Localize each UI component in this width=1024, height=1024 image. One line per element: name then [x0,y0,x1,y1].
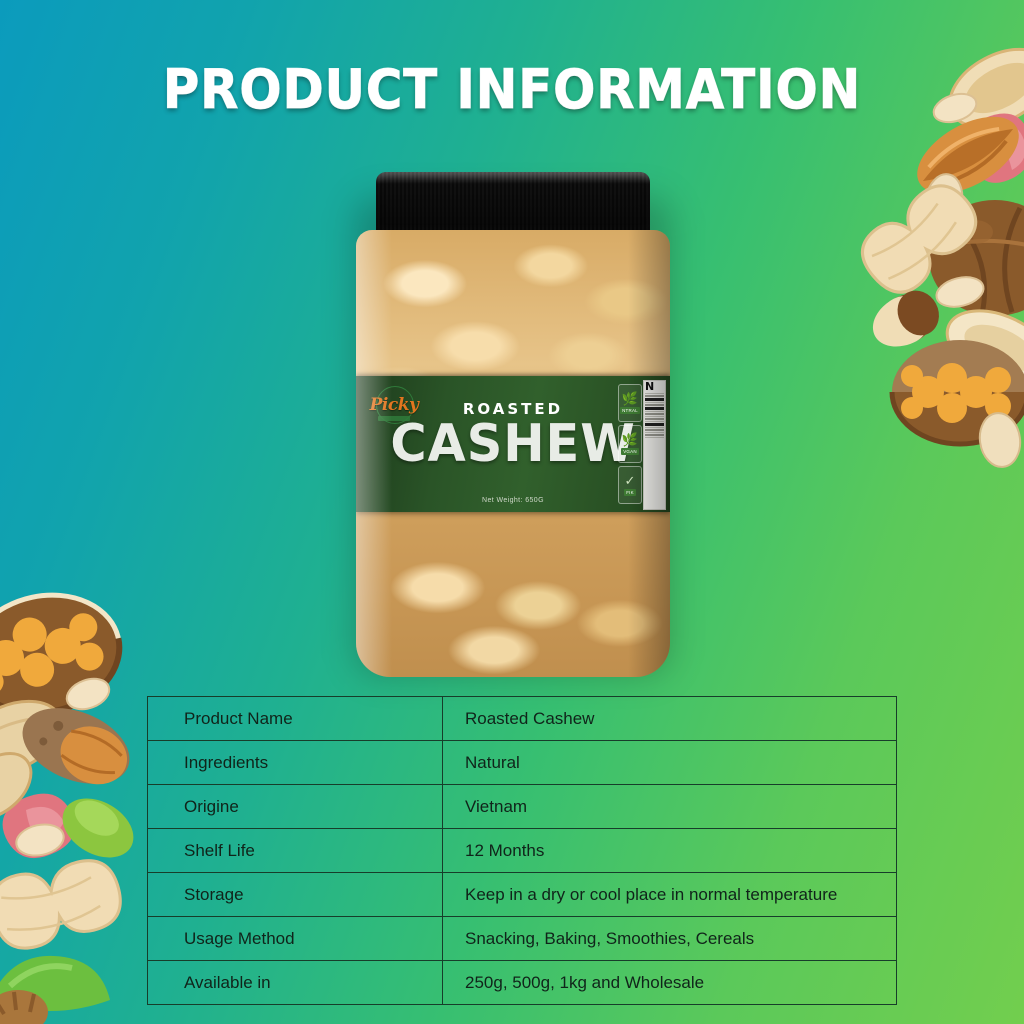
badge-natural-label: NTRAL [620,407,640,414]
table-row: Storage Keep in a dry or cool place in n… [148,873,897,917]
nutrition-facts-panel: N [643,380,666,510]
spec-value: Natural [443,741,897,785]
spec-value: Keep in a dry or cool place in normal te… [443,873,897,917]
table-row: Ingredients Natural [148,741,897,785]
spec-key: Shelf Life [148,829,443,873]
badge-vegan: 🌿 VGAN [618,425,642,463]
spec-key: Usage Method [148,917,443,961]
table-row: Origine Vietnam [148,785,897,829]
spec-value: 250g, 500g, 1kg and Wholesale [443,961,897,1005]
spec-key: Storage [148,873,443,917]
leaf-icon: 🌿 [622,434,638,446]
check-icon: ✓ [625,475,636,487]
table-row: Usage Method Snacking, Baking, Smoothies… [148,917,897,961]
nutrition-heading: N [644,381,665,392]
jar: Picky ROASTED CASHEW Net Weight: 650G 🌿 … [348,172,678,677]
nutrition-line [645,413,664,415]
jar-body: Picky ROASTED CASHEW Net Weight: 650G 🌿 … [356,230,670,677]
nutrition-line [645,421,664,422]
nutrition-line [645,434,664,436]
nutrition-line [645,416,664,417]
nutrition-line [645,429,664,431]
badge-fik: ✓ FIK [618,466,642,504]
spec-value: Snacking, Baking, Smoothies, Cereals [443,917,897,961]
nutrition-line [645,432,664,433]
label-badges: 🌿 NTRAL 🌿 VGAN ✓ FIK [618,384,640,507]
badge-vegan-label: VGAN [621,448,639,455]
badge-natural: 🌿 NTRAL [618,384,642,422]
nutrition-line [645,437,664,438]
spec-value: 12 Months [443,829,897,873]
table-row: Product Name Roasted Cashew [148,697,897,741]
table-row: Available in 250g, 500g, 1kg and Wholesa… [148,961,897,1005]
spec-key: Origine [148,785,443,829]
nutrition-line [645,404,664,406]
leaf-icon: 🌿 [622,393,638,405]
product-spec-table: Product Name Roasted Cashew Ingredients … [147,696,897,1005]
nutrition-line [645,407,664,410]
nutrition-line [645,393,664,394]
nutrition-line [645,427,664,428]
spec-value: Roasted Cashew [443,697,897,741]
page-title: PRODUCT INFORMATION [41,58,983,121]
nutrition-line [645,398,664,401]
spec-key: Available in [148,961,443,1005]
jar-lid [376,172,650,238]
spec-key: Product Name [148,697,443,741]
nutrition-line [645,418,664,420]
spec-value: Vietnam [443,785,897,829]
nutrition-line [645,402,664,403]
table-row: Shelf Life 12 Months [148,829,897,873]
badge-fik-label: FIK [624,489,636,496]
nutrition-line [645,411,664,412]
nutrition-line [645,395,664,397]
nutrition-line [645,423,664,426]
product-jar-image: Picky ROASTED CASHEW Net Weight: 650G 🌿 … [348,172,678,677]
spec-key: Ingredients [148,741,443,785]
spec-table-body: Product Name Roasted Cashew Ingredients … [148,697,897,1005]
product-label: Picky ROASTED CASHEW Net Weight: 650G 🌿 … [356,376,670,512]
product-information-graphic: PRODUCT INFORMATION Picky ROASTED CASHEW… [0,0,1024,1024]
